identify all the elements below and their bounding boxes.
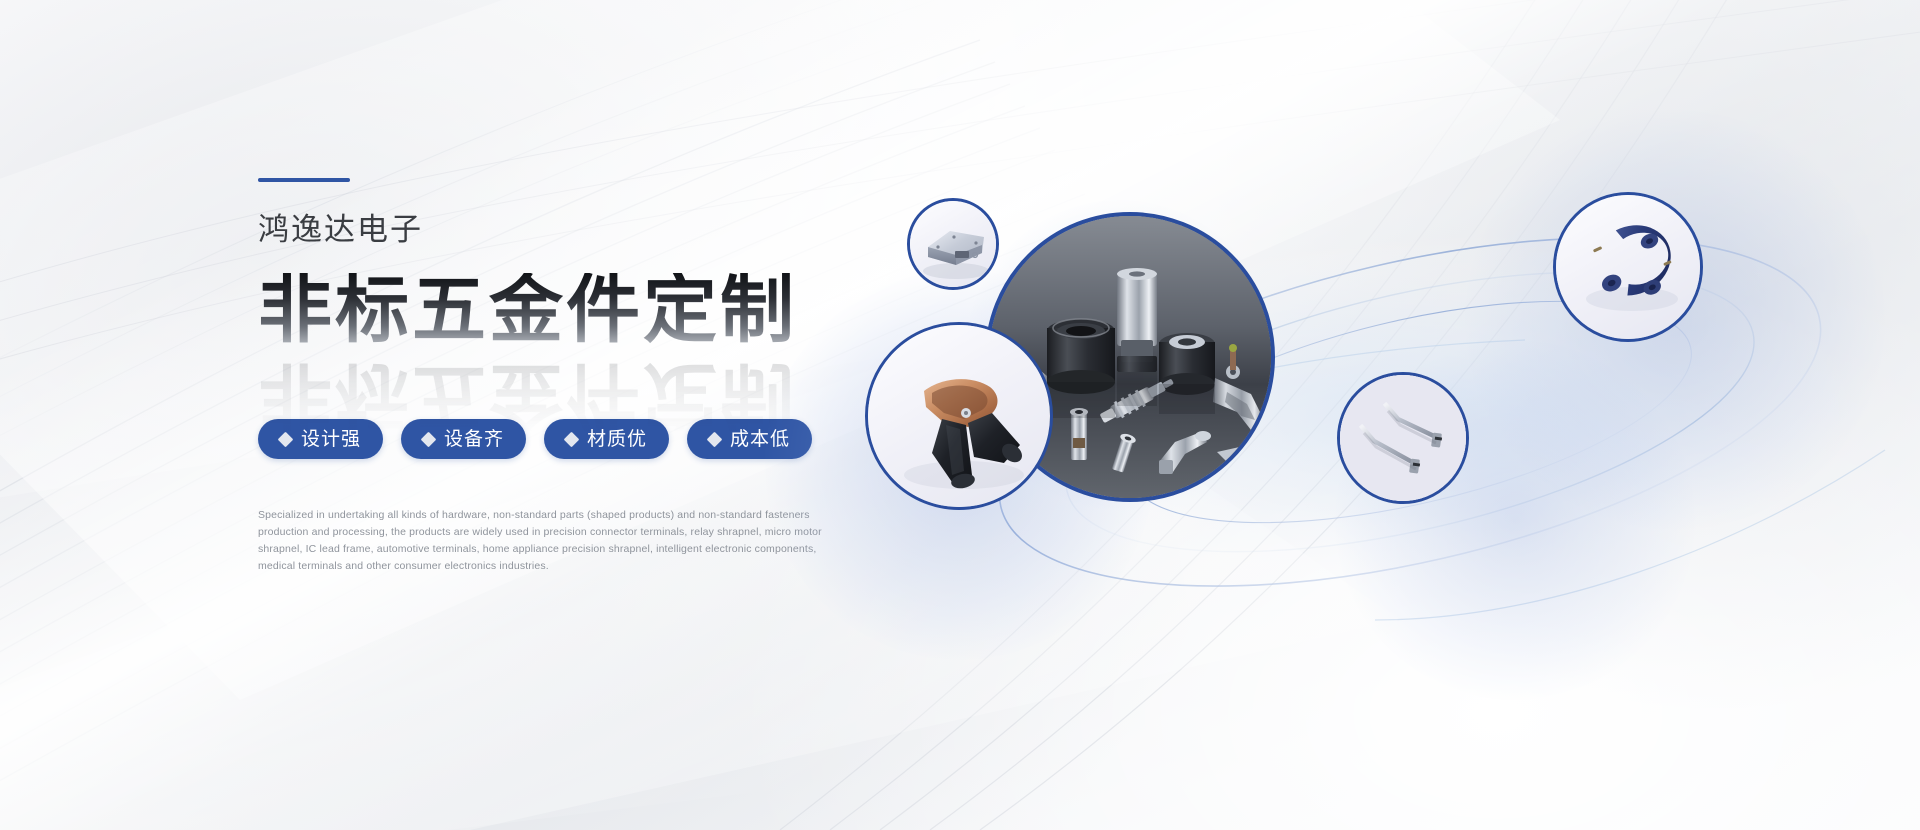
- accent-rule: [258, 178, 350, 182]
- product-image-bent-terminal-pins: [1340, 375, 1466, 501]
- product-image-metal-enclosure-box: [910, 201, 996, 287]
- company-description: Specialized in undertaking all kinds of …: [258, 507, 824, 575]
- company-name: 鸿逸达电子: [258, 214, 898, 245]
- product-circle-c-clip-retaining-ring[interactable]: [1553, 192, 1703, 342]
- headline-reflection: 非标五金件定制: [258, 359, 797, 433]
- product-image-c-clip-retaining-ring: [1556, 195, 1700, 339]
- product-image-battery-clamp: [868, 325, 1050, 507]
- page-title: 非标五金件定制: [258, 273, 898, 347]
- hero-content: 鸿逸达电子 非标五金件定制 非标五金件定制 设计强 设备齐 材质优 成本低: [258, 178, 898, 575]
- headline-block: 非标五金件定制 非标五金件定制: [258, 273, 898, 385]
- product-circle-bent-terminal-pins[interactable]: [1337, 372, 1469, 504]
- product-circle-metal-enclosure-box[interactable]: [907, 198, 999, 290]
- product-circle-battery-clamp[interactable]: [865, 322, 1053, 510]
- product-showcase: [905, 150, 1905, 670]
- hero-banner: 鸿逸达电子 非标五金件定制 非标五金件定制 设计强 设备齐 材质优 成本低: [0, 0, 1920, 830]
